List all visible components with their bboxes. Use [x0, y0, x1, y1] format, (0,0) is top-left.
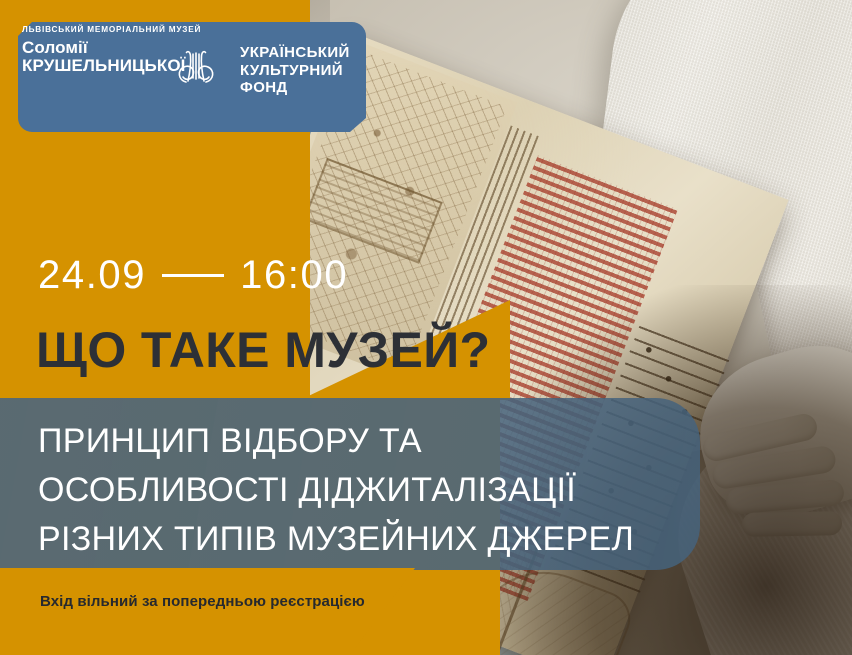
ucf-line-3: ФОНД: [240, 79, 350, 97]
event-poster: ЛЬВІВСЬКИЙ МЕМОРІАЛЬНИЙ МУЗЕЙ Соломії КР…: [0, 0, 852, 655]
event-datetime: 24.09 16:00: [38, 253, 348, 298]
event-time: 16:00: [240, 253, 348, 298]
subtitle-line-1: ПРИНЦИП ВІДБОРУ ТА: [38, 417, 634, 466]
event-subtitle: ПРИНЦИП ВІДБОРУ ТА ОСОБЛИВОСТІ ДІДЖИТАЛІ…: [38, 417, 634, 564]
ucf-line-2: КУЛЬТУРНИЙ: [240, 62, 350, 80]
subtitle-line-3: РІЗНИХ ТИПІВ МУЗЕЙНИХ ДЖЕРЕЛ: [38, 515, 634, 564]
registration-note: Вхід вільний за попередньою реєстрацією: [40, 593, 365, 610]
ukrainian-cultural-fund-logo: УКРАЇНСЬКИЙ КУЛЬТУРНИЙ ФОНД: [240, 44, 350, 97]
event-date: 24.09: [38, 253, 146, 298]
ucf-line-1: УКРАЇНСЬКИЙ: [240, 44, 350, 62]
datetime-separator-dash: [162, 274, 224, 277]
treble-clef-monogram-icon: [172, 48, 220, 88]
museum-logo-kicker: ЛЬВІВСЬКИЙ МЕМОРІАЛЬНИЙ МУЗЕЙ: [22, 26, 222, 34]
subtitle-line-2: ОСОБЛИВОСТІ ДІДЖИТАЛІЗАЦІЇ: [38, 466, 634, 515]
page-title: ЩО ТАКЕ МУЗЕЙ?: [36, 325, 491, 375]
